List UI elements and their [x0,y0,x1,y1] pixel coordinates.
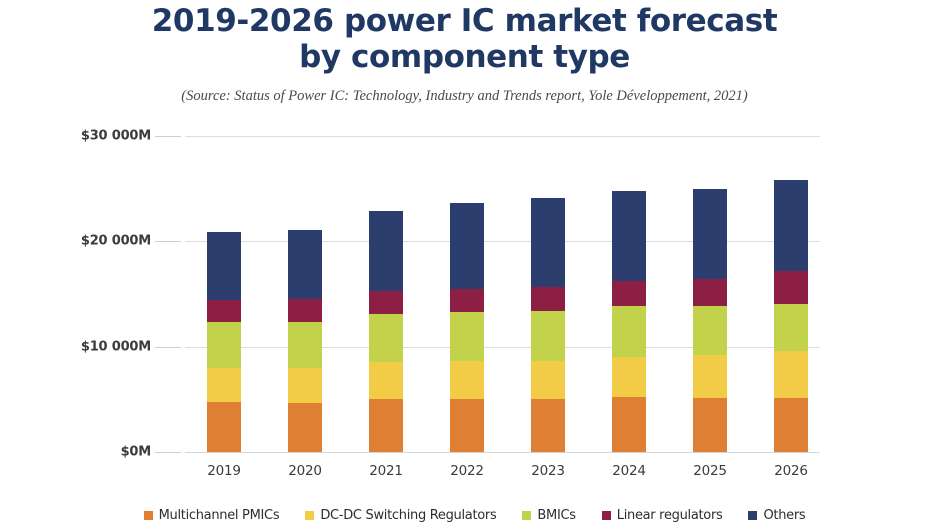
bar-segment[interactable] [693,306,727,356]
legend-swatch-icon [748,511,757,520]
bar-segment[interactable] [450,312,484,361]
legend-item-label: BMICs [537,508,575,523]
bar-segment[interactable] [369,291,403,314]
x-axis-label: 2019 [194,463,254,479]
legend-item[interactable]: BMICs [522,508,575,523]
bar-segment[interactable] [288,368,322,403]
bar-segment[interactable] [369,399,403,452]
legend-swatch-icon [602,511,611,520]
bar-segment[interactable] [531,311,565,361]
y-axis-label: $10 000M [81,339,151,354]
bar-segment[interactable] [207,368,241,402]
x-axis-label: 2022 [437,463,497,479]
bar-segment[interactable] [612,357,646,398]
bar-segment[interactable] [531,399,565,452]
bar-segment[interactable] [531,287,565,311]
legend-item[interactable]: Multichannel PMICs [144,508,280,523]
x-axis-label: 2021 [356,463,416,479]
bar-segment[interactable] [288,322,322,368]
bar-segment[interactable] [531,198,565,286]
bar-2020[interactable]: 2020 [288,230,322,452]
bar-2022[interactable]: 2022 [450,203,484,452]
y-tick-mark-30000 [155,136,181,137]
bar-2023[interactable]: 2023 [531,198,565,452]
bar-segment[interactable] [531,361,565,399]
bar-segment[interactable] [774,351,808,398]
bar-segment[interactable] [774,271,808,304]
bar-segment[interactable] [774,304,808,351]
gridline-0 [185,452,820,453]
bar-2021[interactable]: 2021 [369,211,403,452]
legend-swatch-icon [305,511,314,520]
bar-segment[interactable] [369,314,403,361]
bar-segment[interactable] [693,355,727,398]
bar-segment[interactable] [207,232,241,300]
legend-item[interactable]: Others [748,508,805,523]
bar-2026[interactable]: 2026 [774,180,808,452]
bar-segment[interactable] [288,299,322,321]
y-tick-mark-0 [155,452,181,453]
bar-segment[interactable] [369,211,403,291]
bar-segment[interactable] [612,397,646,452]
legend-item-label: Multichannel PMICs [159,508,280,523]
bar-2019[interactable]: 2019 [207,232,241,452]
bar-segment[interactable] [450,203,484,288]
y-axis-label: $30 000M [81,129,151,144]
bar-2025[interactable]: 2025 [693,189,727,452]
x-axis-label: 2025 [680,463,740,479]
y-axis-label: $0M [121,445,151,460]
gridline-30000 [185,136,820,137]
legend-item[interactable]: Linear regulators [602,508,723,523]
legend-item-label: DC-DC Switching Regulators [320,508,496,523]
y-tick-mark-10000 [155,347,181,348]
chart-legend: Multichannel PMICsDC-DC Switching Regula… [0,508,929,523]
bar-segment[interactable] [612,306,646,357]
bar-segment[interactable] [207,402,241,452]
bar-segment[interactable] [450,289,484,313]
legend-item-label: Linear regulators [617,508,723,523]
bar-segment[interactable] [774,180,808,271]
bar-segment[interactable] [774,398,808,452]
bar-segment[interactable] [369,362,403,399]
y-tick-mark-20000 [155,241,181,242]
plot-area: $0M$10 000M$20 000M$30 000M2019202020212… [185,136,820,452]
x-axis-label: 2026 [761,463,821,479]
bar-segment[interactable] [450,361,484,399]
bar-segment[interactable] [693,189,727,280]
legend-swatch-icon [522,511,531,520]
x-axis-label: 2020 [275,463,335,479]
bar-segment[interactable] [450,399,484,452]
bar-segment[interactable] [207,300,241,322]
bar-segment[interactable] [693,279,727,306]
legend-swatch-icon [144,511,153,520]
chart-canvas: $0M$10 000M$20 000M$30 000M2019202020212… [0,0,929,530]
legend-item-label: Others [763,508,805,523]
x-axis-label: 2024 [599,463,659,479]
y-axis-label: $20 000M [81,234,151,249]
bar-segment[interactable] [612,191,646,281]
bar-segment[interactable] [288,403,322,453]
legend-item[interactable]: DC-DC Switching Regulators [305,508,496,523]
bar-segment[interactable] [612,281,646,306]
bar-2024[interactable]: 2024 [612,191,646,452]
bar-segment[interactable] [693,398,727,452]
x-axis-label: 2023 [518,463,578,479]
bar-segment[interactable] [288,230,322,300]
bar-segment[interactable] [207,322,241,368]
